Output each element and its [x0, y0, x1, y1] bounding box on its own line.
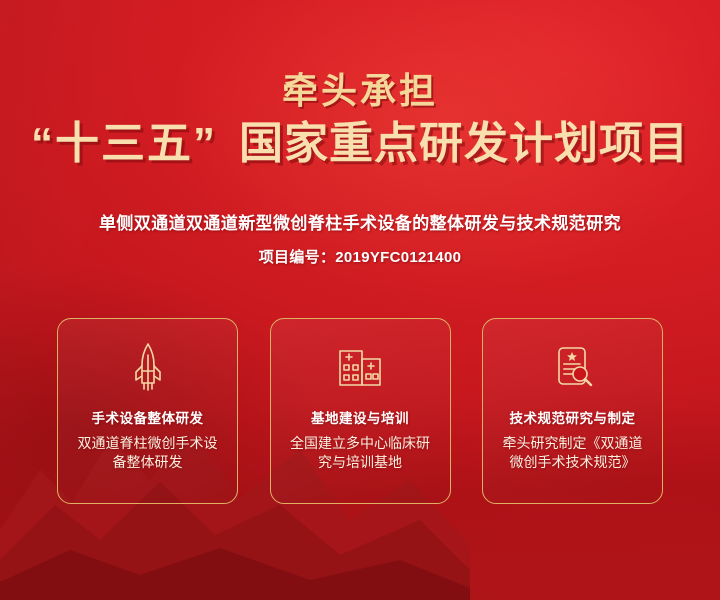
rocket-icon: [122, 341, 174, 393]
project-number-label: 项目编号：: [259, 249, 336, 266]
card-desc: 牵头研究制定《双通道微创手术技术规范》: [497, 434, 649, 472]
card-desc: 双通道脊柱微创手术设备整体研发: [72, 434, 224, 472]
kicker-text: 牵头承担: [0, 72, 720, 110]
card-technical-standard[interactable]: 技术规范研究与制定 牵头研究制定《双通道微创手术技术规范》: [482, 318, 663, 504]
card-row: 手术设备整体研发 双通道脊柱微创手术设备整体研发 基地建设与培训 全国建立多中心…: [57, 318, 663, 504]
card-desc: 全国建立多中心临床研究与培训基地: [284, 434, 436, 472]
title-block: 牵头承担 “十三五”国家重点研发计划项目: [0, 72, 720, 167]
card-title: 手术设备整体研发: [92, 407, 204, 427]
project-number: 项目编号：2019YFC0121400: [0, 246, 720, 267]
headline-rest: 国家重点研发计划项目: [239, 119, 689, 168]
poster-root: 牵头承担 “十三五”国家重点研发计划项目 单侧双通道双通道新型微创脊柱手术设备的…: [0, 0, 720, 600]
card-equipment-rd[interactable]: 手术设备整体研发 双通道脊柱微创手术设备整体研发: [57, 318, 238, 504]
headline-quoted: “十三五”: [31, 119, 217, 168]
card-base-training[interactable]: 基地建设与培训 全国建立多中心临床研究与培训基地: [270, 318, 451, 504]
card-title: 技术规范研究与制定: [510, 407, 636, 427]
headline: “十三五”国家重点研发计划项目: [0, 120, 720, 168]
card-title: 基地建设与培训: [311, 407, 409, 427]
hospital-building-icon: [334, 341, 386, 393]
subtitle-text: 单侧双通道双通道新型微创脊柱手术设备的整体研发与技术规范研究: [0, 209, 720, 234]
project-number-value: 2019YFC0121400: [335, 249, 461, 266]
document-magnifier-icon: [547, 341, 599, 393]
